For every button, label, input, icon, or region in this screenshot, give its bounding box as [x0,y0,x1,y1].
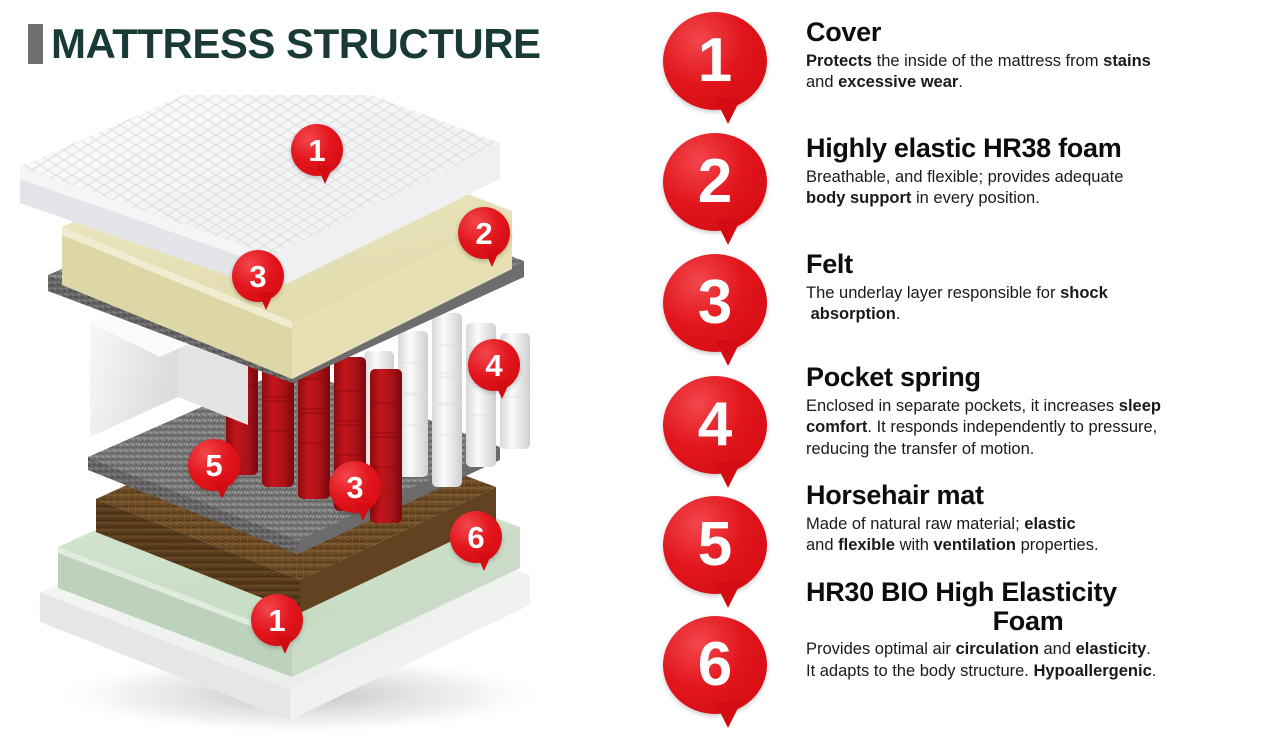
legend-entry-1-body: Protects the inside of the mattress from… [806,51,1250,95]
marker-number: 1 [663,12,767,110]
infographic-canvas: MATTRESS STRUCTURE [0,0,1280,743]
legend-entry-4-title: Pocket spring [806,363,1250,392]
legend-entry-3: Felt The underlay layer responsible for … [806,250,1250,326]
marker-tail [317,166,333,184]
illustration-marker-3-felt-lower[interactable]: 3 [329,461,381,513]
legend-entry-4: Pocket spring Enclosed in separate pocke… [806,363,1250,461]
legend-entry-6-title: HR30 BIO High ElasticityFoam [806,578,1250,635]
marker-tail [214,481,230,499]
page-title-text: MATTRESS STRUCTURE [51,23,541,65]
illustration-marker-3-felt-upper[interactable]: 3 [232,250,284,302]
legend-entry-6: HR30 BIO High ElasticityFoam Provides op… [806,578,1250,683]
title-accent-bar [28,24,43,64]
marker-number: 4 [663,376,767,474]
marker-tail [715,582,741,608]
illustration-marker-4-pocket-spring[interactable]: 4 [468,339,520,391]
legend-marker-6[interactable]: 6 [663,616,767,714]
legend-entry-2: Highly elastic HR38 foam Breathable, and… [806,134,1250,210]
marker-tail [484,249,500,267]
illustration-marker-1-base-cover[interactable]: 1 [251,594,303,646]
marker-number: 2 [663,133,767,231]
exploded-mattress-illustration: 1 2 3 4 5 3 6 1 [0,95,640,743]
legend-marker-3[interactable]: 3 [663,254,767,352]
legend-entry-5-body: Made of natural raw material; elasticand… [806,514,1250,558]
legend-entry-3-title: Felt [806,250,1250,279]
legend-entry-4-body: Enclosed in separate pockets, it increas… [806,396,1250,461]
marker-tail [715,340,741,366]
marker-tail [355,503,371,521]
legend-marker-5[interactable]: 5 [663,496,767,594]
legend-entry-6-body: Provides optimal air circulation and ela… [806,639,1250,683]
marker-tail [715,219,741,245]
legend-entry-2-title: Highly elastic HR38 foam [806,134,1250,163]
legend-entry-1-title: Cover [806,18,1250,47]
marker-tail [715,702,741,728]
marker-number: 3 [663,254,767,352]
legend-marker-1[interactable]: 1 [663,12,767,110]
marker-tail [258,292,274,310]
marker-tail [277,636,293,654]
legend-entry-2-body: Breathable, and flexible; provides adequ… [806,167,1250,211]
marker-tail [476,553,492,571]
marker-tail [494,381,510,399]
legend-marker-2[interactable]: 2 [663,133,767,231]
marker-tail [715,98,741,124]
legend-text-column: Cover Protects the inside of the mattres… [806,0,1256,743]
page-title: MATTRESS STRUCTURE [28,23,541,65]
illustration-marker-5-horsehair-mat[interactable]: 5 [188,439,240,491]
illustration-marker-2-hr38-foam[interactable]: 2 [458,207,510,259]
legend-entry-5-title: Horsehair mat [806,481,1250,510]
legend-entry-3-body: The underlay layer responsible for shock… [806,283,1250,327]
illustration-marker-6-hr30-bio-foam[interactable]: 6 [450,511,502,563]
marker-number: 6 [663,616,767,714]
legend-entry-6-title-line1: HR30 BIO High Elasticity [806,577,1117,607]
legend-entry-1: Cover Protects the inside of the mattres… [806,18,1250,94]
legend-entry-6-title-line2: Foam [806,607,1250,636]
illustration-marker-1-cover[interactable]: 1 [291,124,343,176]
marker-number: 5 [663,496,767,594]
marker-tail [715,462,741,488]
legend-entry-5: Horsehair mat Made of natural raw materi… [806,481,1250,557]
legend-marker-4[interactable]: 4 [663,376,767,474]
